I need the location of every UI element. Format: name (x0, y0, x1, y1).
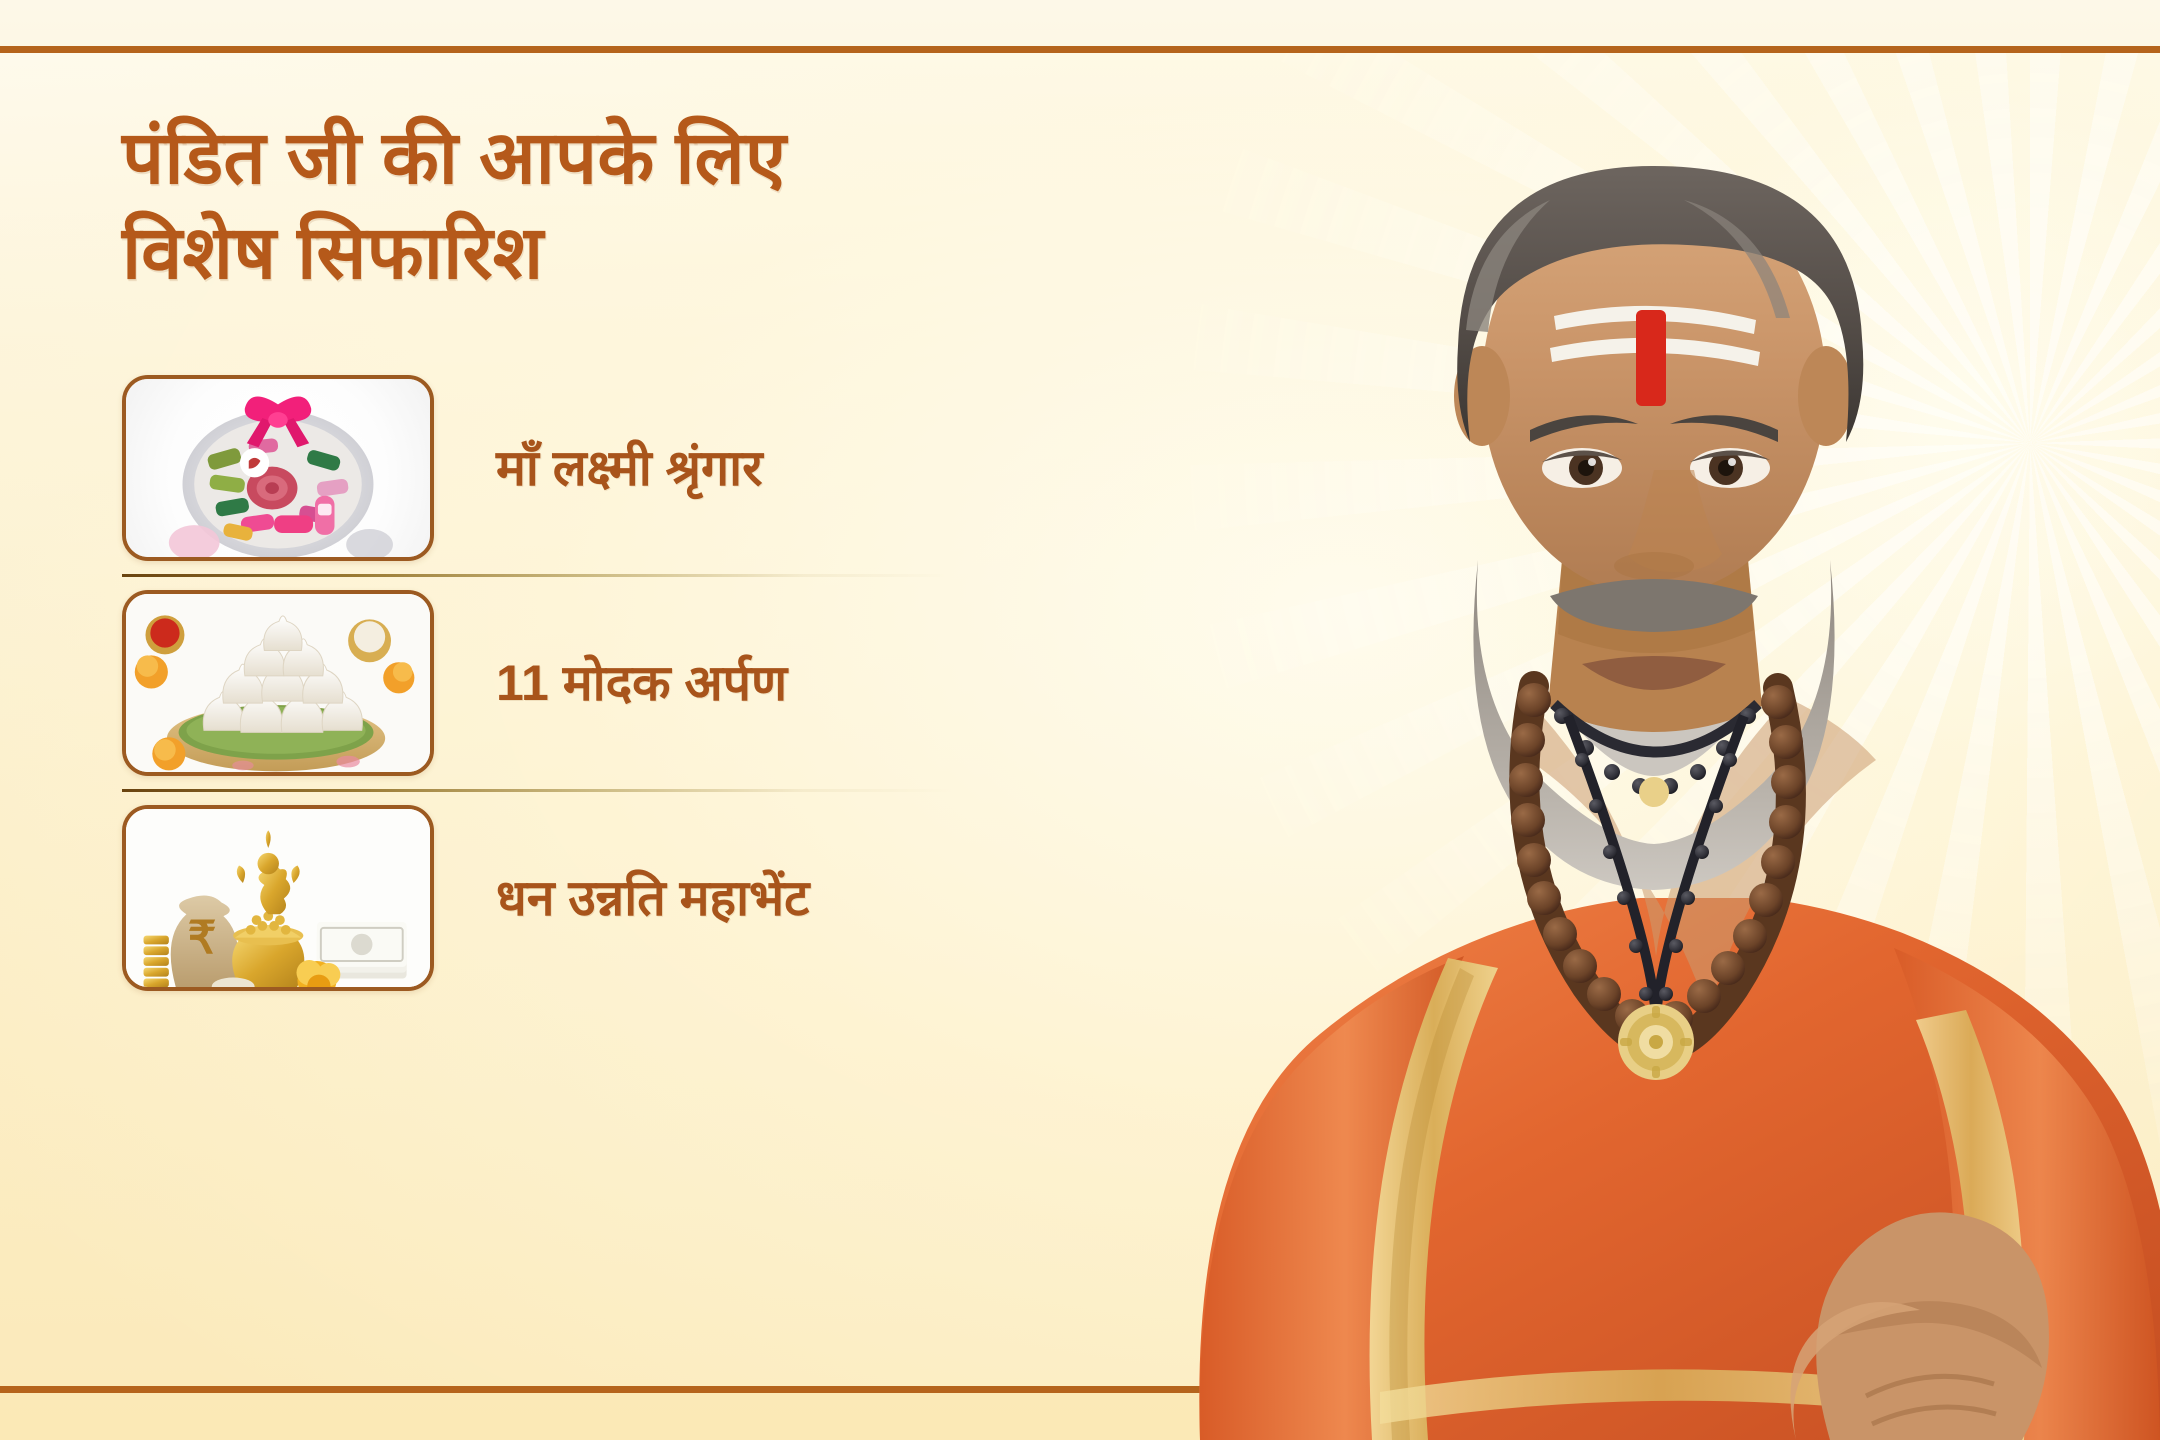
page-title: पंडित जी की आपके लिए विशेष सिफारिश (122, 111, 1182, 300)
svg-text:₹: ₹ (188, 914, 217, 964)
modak-plate-thumbnail (122, 590, 434, 776)
gift-tray-icon (126, 379, 430, 557)
list-item[interactable]: 11 मोदक अर्पण (122, 577, 982, 789)
content-column: पंडित जी की आपके लिए विशेष सिफारिश (0, 53, 1230, 1386)
sun-glow (1420, 53, 2160, 973)
list-item[interactable]: ₹ (122, 792, 982, 1004)
top-divider-rule (0, 46, 2160, 53)
modak-icon (126, 594, 430, 772)
list-item-label: 11 मोदक अर्पण (496, 653, 787, 713)
headline-line-2: विशेष सिफारिश (122, 206, 1182, 301)
wealth-prosperity-offering-thumbnail: ₹ (122, 805, 434, 991)
list-item[interactable]: माँ लक्ष्मी श्रृंगार (122, 362, 982, 574)
wealth-icon: ₹ (126, 809, 430, 987)
benefit-list: माँ लक्ष्मी श्रृंगार (122, 362, 982, 1004)
sunburst-rays (1180, 53, 2160, 1293)
list-item-label: माँ लक्ष्मी श्रृंगार (496, 438, 763, 498)
lakshmi-shringar-gift-tray-thumbnail (122, 375, 434, 561)
list-item-label: धन उन्नति महाभेंट (496, 868, 809, 928)
recommendation-banner: पंडित जी की आपके लिए विशेष सिफारिश (0, 0, 2160, 1440)
headline-line-1: पंडित जी की आपके लिए (122, 111, 1182, 206)
bottom-divider-rule (0, 1386, 2160, 1393)
